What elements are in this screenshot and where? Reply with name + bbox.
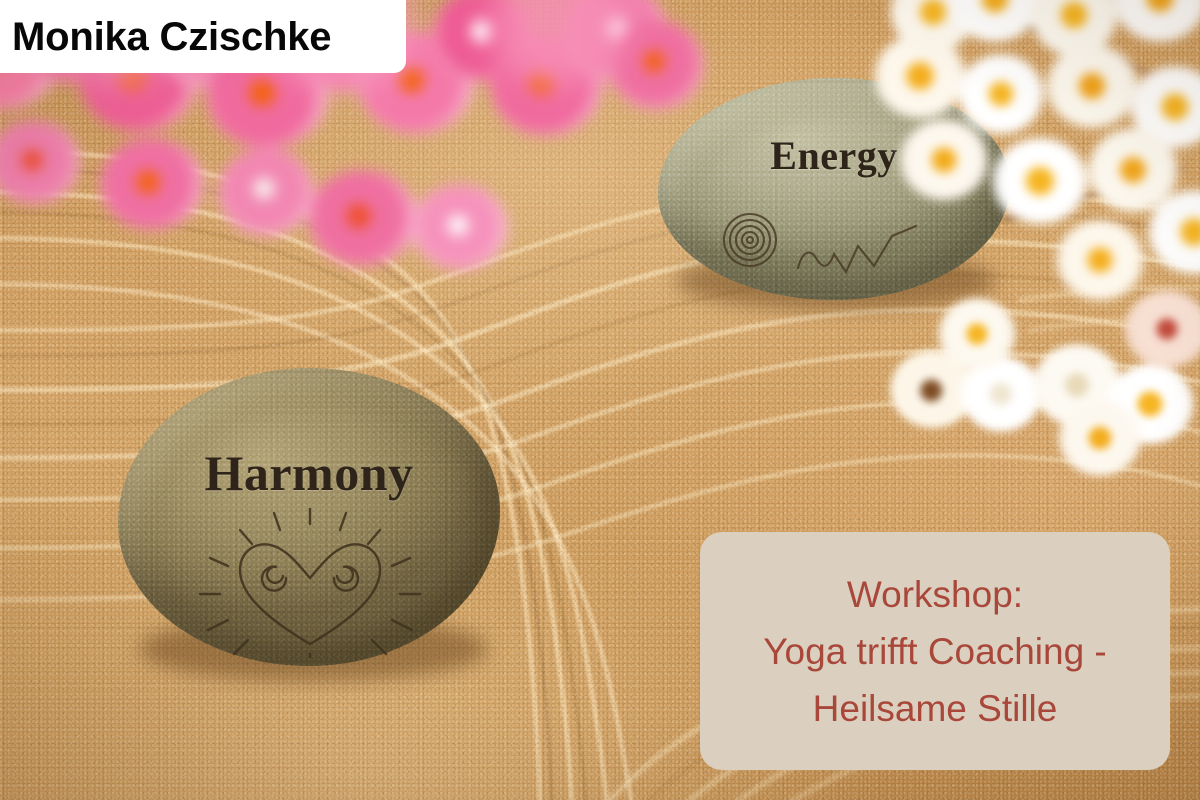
workshop-title-card: Workshop: Yoga trifft Coaching - Heilsam… — [700, 532, 1170, 770]
harmony-stone-label: Harmony — [118, 444, 500, 502]
energy-stone: Energy — [658, 78, 1010, 300]
workshop-line-3: Heilsame Stille — [813, 680, 1058, 737]
zen-garden-scene: Energy Harmony — [0, 0, 1200, 800]
presenter-name-text: Monika Czischke — [12, 17, 331, 57]
harmony-stone: Harmony — [118, 368, 500, 666]
energy-stone-engraving — [706, 196, 966, 282]
harmony-stone-engraving — [162, 508, 458, 658]
workshop-line-1: Workshop: — [847, 566, 1023, 623]
energy-stone-label: Energy — [658, 132, 1010, 179]
workshop-line-2: Yoga trifft Coaching - — [763, 623, 1107, 680]
presenter-name-banner: Monika Czischke — [0, 0, 406, 73]
